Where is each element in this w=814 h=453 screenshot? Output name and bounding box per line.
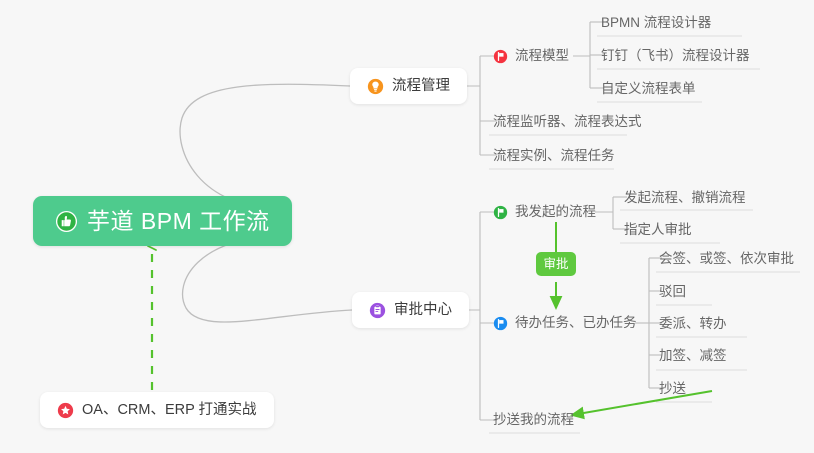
footnote-integration-node[interactable]: OA、CRM、ERP 打通实战: [40, 392, 274, 428]
branch-label: 流程管理: [392, 79, 450, 94]
clipboard-purple-icon: [369, 302, 386, 319]
node-label: 流程实例、流程任务: [493, 149, 615, 163]
node-label: 抄送: [659, 382, 686, 396]
node-reject[interactable]: 驳回: [659, 281, 686, 303]
branch-label: 审批中心: [394, 303, 452, 318]
edge-cc-to-ccme: [572, 391, 712, 415]
node-label: 驳回: [659, 285, 686, 299]
thumbs-up-icon: [55, 210, 78, 233]
node-label: 加签、减签: [659, 349, 727, 363]
node-instance-task[interactable]: 流程实例、流程任务: [493, 145, 615, 167]
node-cc-to-me[interactable]: 抄送我的流程: [493, 409, 574, 431]
edge-root-to-approval-center: [183, 236, 352, 322]
footnote-label: OA、CRM、ERP 打通实战: [82, 403, 257, 418]
node-cc[interactable]: 抄送: [659, 378, 686, 400]
approve-badge[interactable]: 审批: [536, 252, 576, 276]
node-process-model[interactable]: 流程模型: [493, 45, 569, 67]
node-listener-expression[interactable]: 流程监听器、流程表达式: [493, 111, 642, 133]
node-label: BPMN 流程设计器: [601, 16, 711, 30]
node-add-remove-sign[interactable]: 加签、减签: [659, 345, 727, 367]
node-custom-process-form[interactable]: 自定义流程表单: [601, 78, 696, 100]
branch-process-management[interactable]: 流程管理: [350, 68, 467, 104]
node-bpmn-designer[interactable]: BPMN 流程设计器: [601, 12, 711, 34]
flag-green-icon: [493, 205, 508, 220]
node-label: 指定人审批: [624, 223, 692, 237]
branch-approval-center[interactable]: 审批中心: [352, 292, 469, 328]
mindmap-canvas: 芋道 BPM 工作流 流程管理 流程模型 流程监听器、流程表达式 流程实例、流: [0, 0, 814, 453]
star-red-icon: [57, 402, 74, 419]
root-label: 芋道 BPM 工作流: [87, 210, 270, 233]
node-label: 待办任务、已办任务: [515, 316, 637, 330]
node-my-initiated[interactable]: 我发起的流程: [493, 201, 596, 223]
node-label: 会签、或签、依次审批: [659, 252, 794, 266]
badge-label: 审批: [544, 258, 569, 271]
edge-root-to-process-management: [180, 84, 350, 208]
node-delegate-transfer[interactable]: 委派、转办: [659, 313, 727, 335]
node-multi-sign[interactable]: 会签、或签、依次审批: [659, 248, 794, 270]
lightbulb-icon: [367, 78, 384, 95]
node-dingtalk-feishu-designer[interactable]: 钉钉（飞书）流程设计器: [601, 45, 750, 67]
node-label: 流程模型: [515, 49, 569, 63]
root-node[interactable]: 芋道 BPM 工作流: [33, 196, 292, 246]
node-label: 发起流程、撤销流程: [624, 191, 746, 205]
node-label: 我发起的流程: [515, 205, 596, 219]
flag-blue-icon: [493, 316, 508, 331]
node-todo-done-tasks[interactable]: 待办任务、已办任务: [493, 312, 637, 334]
node-label: 流程监听器、流程表达式: [493, 115, 642, 129]
node-label: 抄送我的流程: [493, 413, 574, 427]
node-start-cancel[interactable]: 发起流程、撤销流程: [624, 187, 746, 209]
node-assignee-approve[interactable]: 指定人审批: [624, 219, 692, 241]
node-label: 委派、转办: [659, 317, 727, 331]
flag-red-icon: [493, 49, 508, 64]
node-label: 钉钉（飞书）流程设计器: [601, 49, 750, 63]
node-label: 自定义流程表单: [601, 82, 696, 96]
